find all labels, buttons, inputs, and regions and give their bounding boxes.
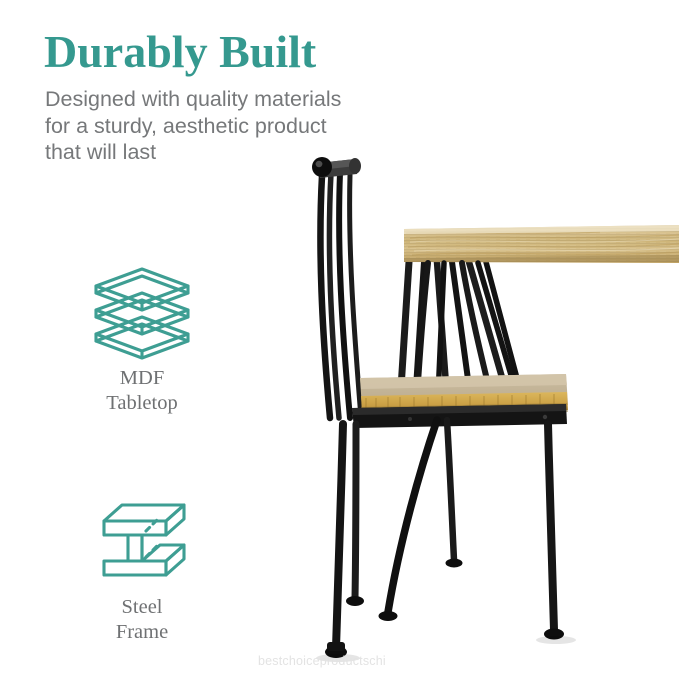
feature-mdf-caption: MDF Tabletop bbox=[47, 366, 237, 416]
feature-mdf-caption-line-2: Tabletop bbox=[47, 391, 237, 416]
subtitle-line-2: for a sturdy, aesthetic product bbox=[45, 113, 395, 140]
watermark: bestchoiceproductschi bbox=[258, 654, 386, 668]
page-title: Durably Built bbox=[44, 26, 316, 78]
chair-foot-caps bbox=[325, 559, 564, 659]
table-top bbox=[404, 225, 679, 263]
table-legs bbox=[400, 262, 518, 404]
feature-steel-caption: Steel Frame bbox=[47, 595, 237, 645]
i-beam-icon bbox=[47, 487, 237, 595]
stacked-panels-icon bbox=[47, 258, 237, 366]
chair-legs bbox=[336, 420, 554, 648]
page-subtitle: Designed with quality materials for a st… bbox=[45, 86, 395, 166]
subtitle-line-1: Designed with quality materials bbox=[45, 86, 395, 113]
subtitle-line-3: that will last bbox=[45, 139, 395, 166]
product-feature-graphic: bestchoiceproductschi Durably Built Desi… bbox=[0, 0, 679, 679]
chair bbox=[312, 157, 576, 662]
chair-backrest bbox=[320, 173, 361, 418]
watermark-occlusion bbox=[398, 648, 476, 674]
feature-mdf-tabletop: MDF Tabletop bbox=[47, 258, 237, 416]
feature-steel-caption-line-1: Steel bbox=[47, 595, 237, 620]
feature-steel-caption-line-2: Frame bbox=[47, 620, 237, 645]
chair-seat bbox=[360, 374, 568, 416]
table bbox=[400, 225, 679, 404]
chair-seat-frame bbox=[352, 404, 567, 428]
feature-mdf-caption-line-1: MDF bbox=[47, 366, 237, 391]
chair-rear-supports bbox=[417, 263, 516, 400]
feature-steel-frame: Steel Frame bbox=[47, 487, 237, 645]
